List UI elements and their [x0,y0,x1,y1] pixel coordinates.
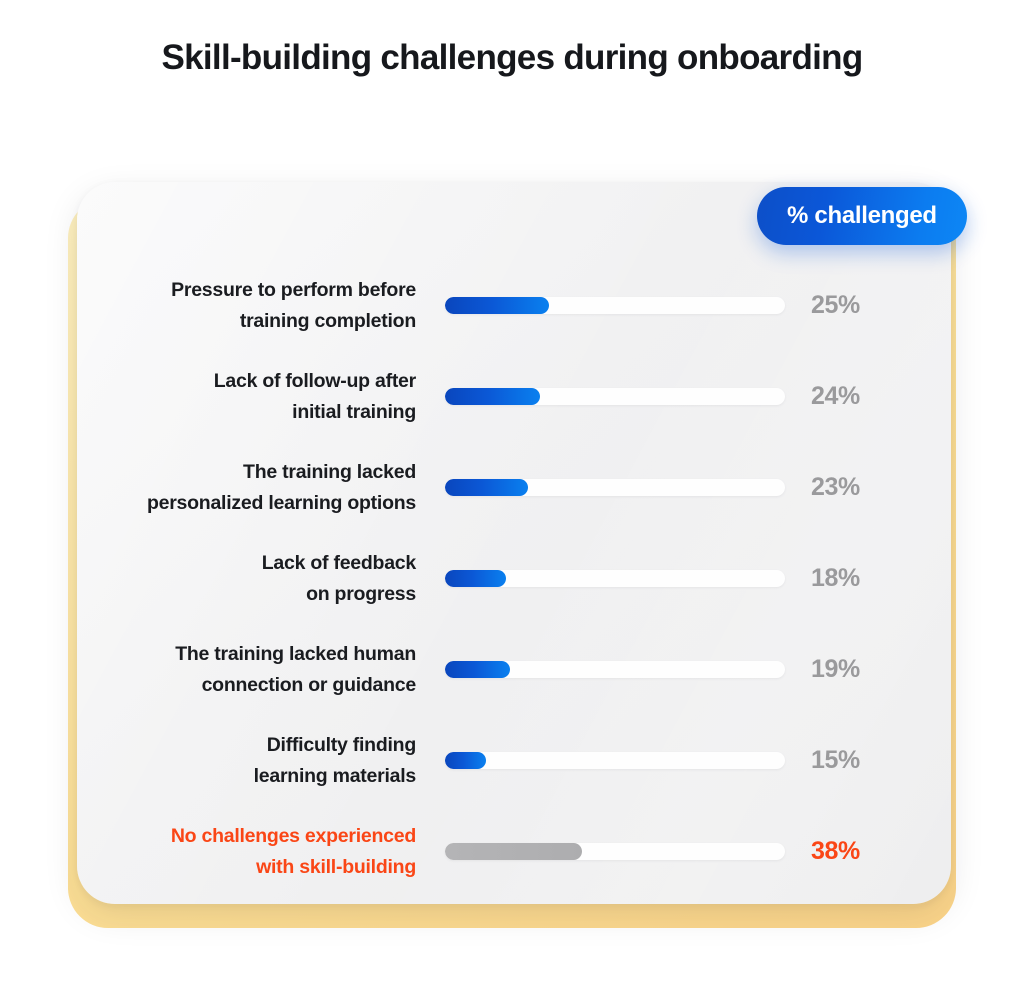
bar-row-label: Pressure to perform before training comp… [77,275,445,335]
bar-track [445,661,785,678]
legend-badge[interactable]: % challenged [757,187,967,245]
bar-fill [445,661,510,678]
bar-track [445,570,785,587]
bar-row-label: No challenges experienced with skill-bui… [77,821,445,881]
bar-row: Lack of feedback on progress18% [77,533,951,624]
bar-row-value: 23% [785,473,905,502]
bar-track [445,752,785,769]
bar-rows: Pressure to perform before training comp… [77,260,951,897]
bar-row-label: Lack of feedback on progress [77,548,445,608]
bar-fill [445,388,540,405]
bar-row-label: The training lacked human connection or … [77,639,445,699]
bar-fill [445,297,549,314]
bar-row-value: 24% [785,382,905,411]
bar-track [445,843,785,860]
page-title: Skill-building challenges during onboard… [0,38,1024,78]
chart-page: Skill-building challenges during onboard… [0,0,1024,994]
bar-row: Pressure to perform before training comp… [77,260,951,351]
bar-row-value: 19% [785,655,905,684]
legend-badge-label: % challenged [787,202,937,230]
bar-row-value: 25% [785,291,905,320]
bar-row-label: Difficulty finding learning materials [77,730,445,790]
bar-row: Lack of follow-up after initial training… [77,351,951,442]
bar-row: No challenges experienced with skill-bui… [77,806,951,897]
bar-row: The training lacked personalized learnin… [77,442,951,533]
bar-row: Difficulty finding learning materials15% [77,715,951,806]
bar-fill [445,843,582,860]
bar-fill [445,479,528,496]
bar-row: The training lacked human connection or … [77,624,951,715]
chart-card-wrapper: % challenged Pressure to perform before … [68,176,960,928]
bar-row-value: 38% [785,837,905,866]
bar-row-label: Lack of follow-up after initial training [77,366,445,426]
bar-track [445,297,785,314]
bar-row-label: The training lacked personalized learnin… [77,457,445,517]
bar-fill [445,570,506,587]
chart-card: % challenged Pressure to perform before … [77,182,951,904]
bar-fill [445,752,486,769]
bar-track [445,388,785,405]
bar-row-value: 18% [785,564,905,593]
bar-track [445,479,785,496]
bar-row-value: 15% [785,746,905,775]
